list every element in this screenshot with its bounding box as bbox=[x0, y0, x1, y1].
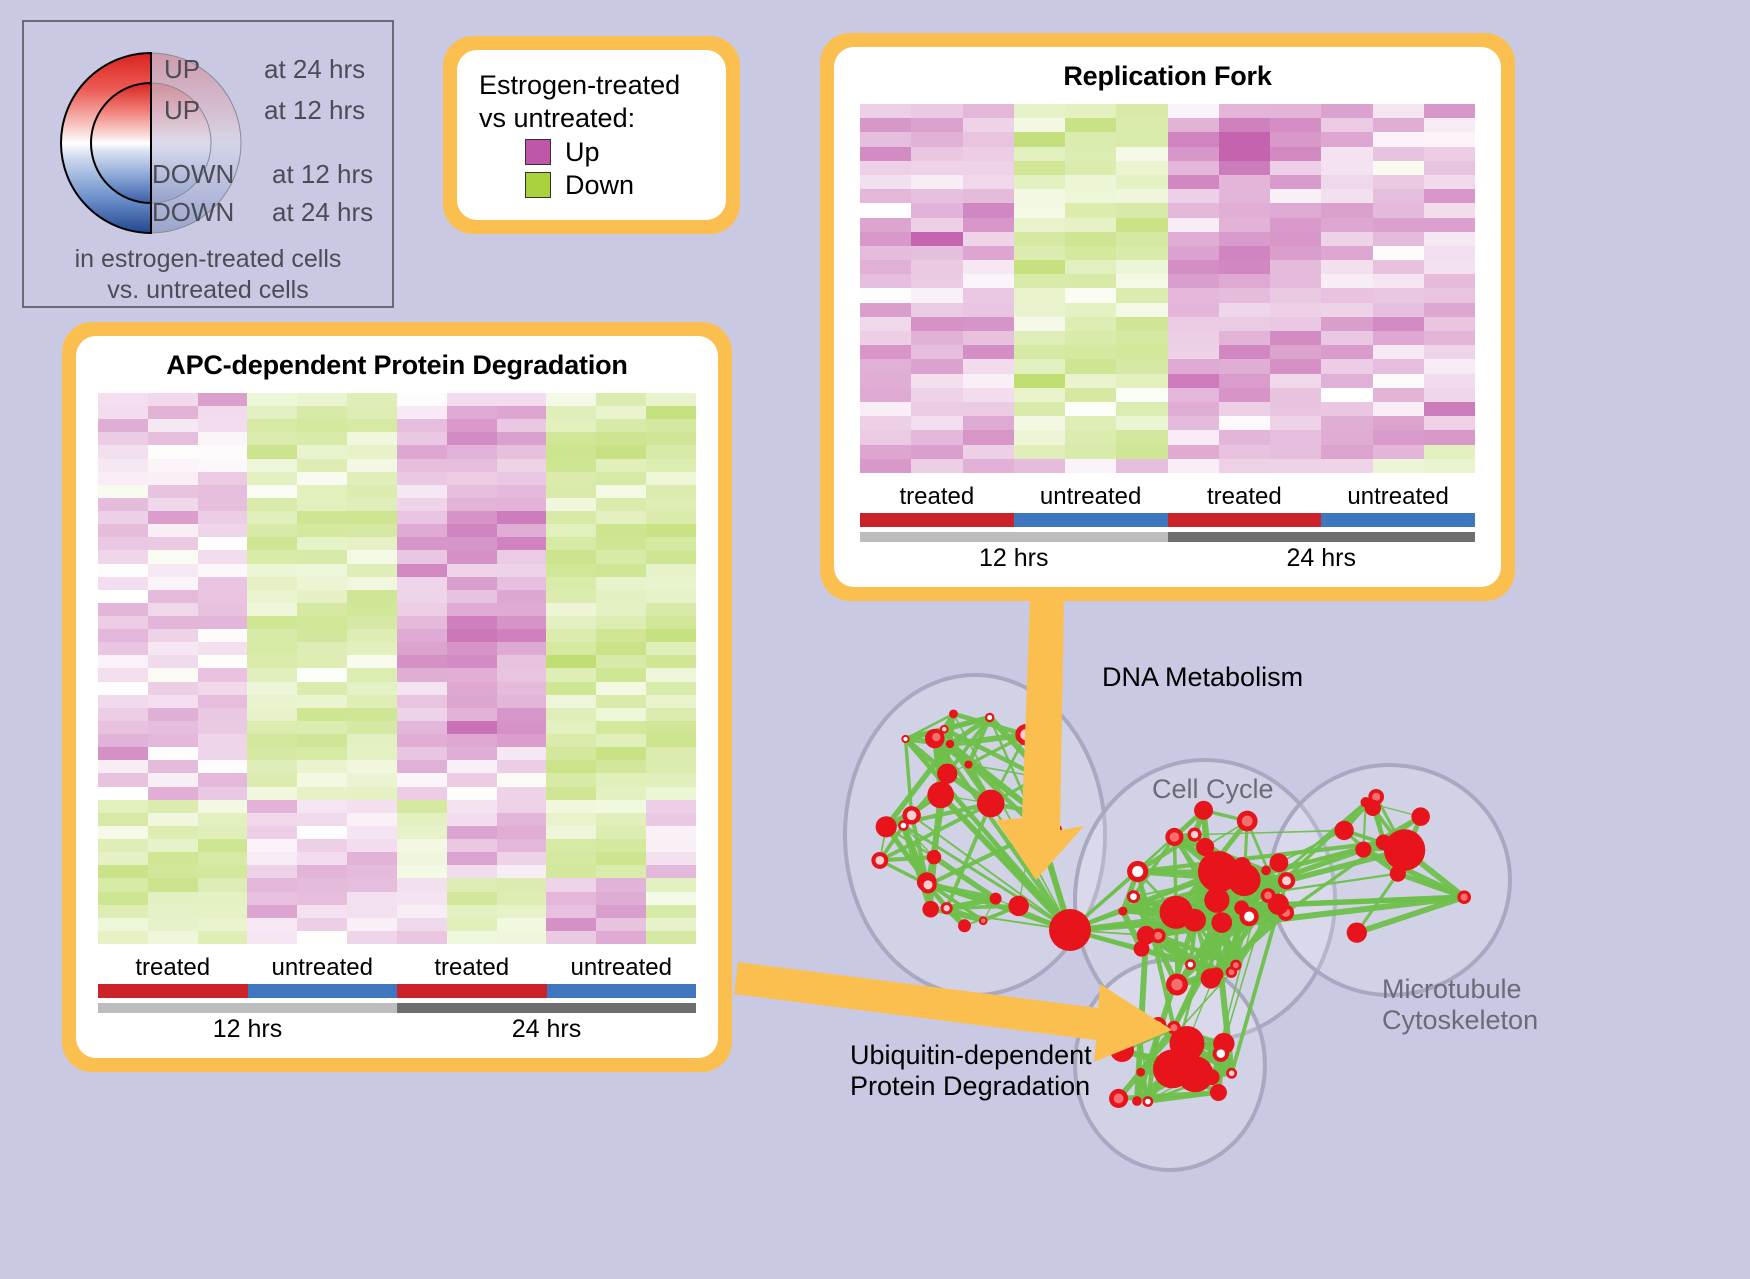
heatmap-cell bbox=[497, 813, 547, 826]
heatmap-cell bbox=[397, 905, 447, 918]
heatmap-cell bbox=[98, 432, 148, 445]
heatmap-cell bbox=[247, 472, 297, 485]
heatmap-cell bbox=[447, 485, 497, 498]
heatmap-cell bbox=[148, 852, 198, 865]
heatmap-cell bbox=[397, 708, 447, 721]
heatmap-cell bbox=[1116, 459, 1167, 473]
heatmap-cell bbox=[148, 537, 198, 550]
network-node bbox=[990, 893, 1002, 905]
legend-swatch-up-icon bbox=[525, 139, 551, 165]
heatmap-cell bbox=[297, 773, 347, 786]
heatmap-cell bbox=[596, 655, 646, 668]
network-node-core bbox=[1038, 769, 1049, 780]
heatmap-cell bbox=[98, 918, 148, 931]
heatmap-cell bbox=[646, 708, 696, 721]
heatmap-cell bbox=[646, 472, 696, 485]
heatmap-cell bbox=[546, 616, 596, 629]
heatmap-cell bbox=[347, 616, 397, 629]
network-node-core bbox=[875, 856, 884, 865]
heatmap-cell bbox=[646, 445, 696, 458]
heatmap-cell bbox=[1219, 118, 1270, 132]
heatmap-cell bbox=[596, 734, 646, 747]
heatmap-cell bbox=[1014, 104, 1065, 118]
heatmap-cell bbox=[497, 800, 547, 813]
heatmap-cell bbox=[397, 918, 447, 931]
heatmap-cell bbox=[1168, 388, 1219, 402]
network-node-core bbox=[903, 737, 907, 741]
heatmap-cell bbox=[1321, 104, 1372, 118]
heatmap-cell bbox=[1373, 232, 1424, 246]
heatmap-cell bbox=[1065, 359, 1116, 373]
heatmap-cell bbox=[447, 590, 497, 603]
heatmap-cell bbox=[1424, 175, 1475, 189]
network-node-core bbox=[1372, 793, 1380, 801]
heatmap-cell bbox=[1014, 445, 1065, 459]
apc-time-label-0: 12 hrs bbox=[98, 1015, 397, 1044]
heatmap-cell bbox=[1065, 317, 1116, 331]
legend-item-down: Down bbox=[525, 170, 634, 201]
network-node bbox=[1334, 821, 1353, 840]
heatmap-cell bbox=[860, 104, 911, 118]
heatmap-cell bbox=[1168, 203, 1219, 217]
network-node-core bbox=[1154, 932, 1162, 940]
time-bar-24hrs bbox=[1168, 532, 1476, 542]
apc-degradation-title: APC-dependent Protein Degradation bbox=[166, 350, 627, 381]
heatmap-cell bbox=[1168, 147, 1219, 161]
heatmap-cell bbox=[497, 905, 547, 918]
heatmap-cell bbox=[198, 590, 248, 603]
heatmap-cell bbox=[1219, 246, 1270, 260]
heatmap-cell bbox=[297, 629, 347, 642]
heatmap-cell bbox=[447, 445, 497, 458]
heatmap-cell bbox=[963, 331, 1014, 345]
heatmap-cell bbox=[1014, 459, 1065, 473]
heatmap-cell bbox=[247, 734, 297, 747]
heatmap-cell bbox=[297, 852, 347, 865]
heatmap-cell bbox=[397, 878, 447, 891]
heatmap-cell bbox=[1065, 331, 1116, 345]
key-time-up-24: at 24 hrs bbox=[264, 54, 365, 85]
heatmap-cell bbox=[1168, 402, 1219, 416]
heatmap-cell bbox=[247, 878, 297, 891]
heatmap-cell bbox=[397, 406, 447, 419]
heatmap-cell bbox=[247, 905, 297, 918]
heatmap-cell bbox=[596, 695, 646, 708]
network-node bbox=[1049, 909, 1091, 951]
heatmap-cell bbox=[1270, 104, 1321, 118]
heatmap-cell bbox=[1065, 118, 1116, 132]
network-node bbox=[1118, 907, 1127, 916]
heatmap-cell bbox=[1168, 274, 1219, 288]
heatmap-cell bbox=[1065, 288, 1116, 302]
heatmap-cell bbox=[148, 747, 198, 760]
heatmap-cell bbox=[860, 147, 911, 161]
network-node-core bbox=[1154, 1021, 1163, 1030]
key-footer-line1: in estrogen-treated cells bbox=[24, 244, 392, 275]
heatmap-cell bbox=[347, 747, 397, 760]
heatmap-cell bbox=[297, 393, 347, 406]
heatmap-cell bbox=[447, 734, 497, 747]
heatmap-cell bbox=[646, 878, 696, 891]
heatmap-cell bbox=[198, 918, 248, 931]
heatmap-cell bbox=[397, 826, 447, 839]
network-node-core bbox=[932, 733, 940, 741]
heatmap-cell bbox=[1065, 147, 1116, 161]
legend-swatch-down-icon bbox=[525, 172, 551, 198]
heatmap-cell bbox=[911, 132, 962, 146]
heatmap-cell bbox=[963, 374, 1014, 388]
heatmap-cell bbox=[1116, 388, 1167, 402]
heatmap-cell bbox=[1065, 232, 1116, 246]
heatmap-cell bbox=[1014, 147, 1065, 161]
heatmap-cell bbox=[1373, 104, 1424, 118]
heatmap-cell bbox=[1219, 203, 1270, 217]
heatmap-cell bbox=[1373, 430, 1424, 444]
heatmap-cell bbox=[347, 682, 397, 695]
heatmap-cell bbox=[1168, 331, 1219, 345]
heatmap-cell bbox=[497, 511, 547, 524]
heatmap-cell bbox=[1270, 161, 1321, 175]
heatmap-cell bbox=[596, 629, 646, 642]
heatmap-cell bbox=[911, 274, 962, 288]
heatmap-cell bbox=[546, 682, 596, 695]
heatmap-cell bbox=[1424, 132, 1475, 146]
heatmap-cell bbox=[397, 393, 447, 406]
heatmap-cell bbox=[1219, 359, 1270, 373]
heatmap-cell bbox=[198, 445, 248, 458]
heatmap-cell bbox=[397, 498, 447, 511]
ubiquitin-label-line2: Protein Degradation bbox=[850, 1071, 1092, 1102]
heatmap-cell bbox=[497, 721, 547, 734]
heatmap-cell bbox=[397, 564, 447, 577]
heatmap-cell bbox=[148, 813, 198, 826]
heatmap-cell bbox=[397, 839, 447, 852]
heatmap-cell bbox=[1065, 161, 1116, 175]
cluster-halo-microtubule bbox=[1270, 765, 1510, 995]
heatmap-cell bbox=[1321, 374, 1372, 388]
heatmap-cell bbox=[148, 918, 198, 931]
heatmap-cell bbox=[247, 892, 297, 905]
heatmap-cell bbox=[860, 189, 911, 203]
heatmap-cell bbox=[497, 629, 547, 642]
heatmap-cell bbox=[198, 550, 248, 563]
network-node-core bbox=[1233, 962, 1239, 968]
heatmap-cell bbox=[297, 445, 347, 458]
heatmap-cell bbox=[1065, 104, 1116, 118]
heatmap-cell bbox=[1116, 445, 1167, 459]
heatmap-cell bbox=[347, 459, 397, 472]
heatmap-cell bbox=[1014, 331, 1065, 345]
heatmap-cell bbox=[347, 892, 397, 905]
heatmap-cell bbox=[497, 564, 547, 577]
network-node-core bbox=[1461, 894, 1468, 901]
heatmap-cell bbox=[1168, 303, 1219, 317]
heatmap-cell bbox=[546, 537, 596, 550]
heatmap-cell bbox=[297, 682, 347, 695]
heatmap-cell bbox=[447, 826, 497, 839]
heatmap-cell bbox=[1424, 203, 1475, 217]
heatmap-cell bbox=[98, 524, 148, 537]
heatmap-cell bbox=[148, 577, 198, 590]
heatmap-cell bbox=[247, 432, 297, 445]
heatmap-cell bbox=[860, 246, 911, 260]
replication-column-labels: treated untreated treated untreated bbox=[860, 483, 1475, 511]
color-key-box: UP at 24 hrs UP at 12 hrs DOWN at 12 hrs… bbox=[22, 20, 394, 308]
heatmap-cell bbox=[297, 695, 347, 708]
heatmap-cell bbox=[98, 577, 148, 590]
heatmap-cell bbox=[1424, 303, 1475, 317]
heatmap-cell bbox=[1116, 246, 1167, 260]
heatmap-cell bbox=[1168, 288, 1219, 302]
heatmap-cell bbox=[497, 878, 547, 891]
network-node-core bbox=[1229, 1070, 1235, 1076]
heatmap-cell bbox=[860, 430, 911, 444]
heatmap-cell bbox=[497, 865, 547, 878]
heatmap-cell bbox=[497, 432, 547, 445]
rep-time-label-0: 12 hrs bbox=[860, 544, 1168, 573]
replication-treatment-bar bbox=[860, 513, 1475, 527]
rep-col-label-3: untreated bbox=[1321, 483, 1475, 511]
heatmap-cell bbox=[247, 616, 297, 629]
heatmap-cell bbox=[297, 603, 347, 616]
heatmap-cell bbox=[911, 459, 962, 473]
heatmap-cell bbox=[148, 445, 198, 458]
heatmap-cell bbox=[596, 419, 646, 432]
heatmap-cell bbox=[497, 918, 547, 931]
cluster-label-dna-metabolism: DNA Metabolism bbox=[1102, 662, 1303, 693]
heatmap-cell bbox=[198, 419, 248, 432]
rep-col-label-2: treated bbox=[1168, 483, 1322, 511]
heatmap-cell bbox=[1219, 232, 1270, 246]
key-time-down-24: at 24 hrs bbox=[272, 197, 373, 228]
heatmap-cell bbox=[148, 839, 198, 852]
heatmap-cell bbox=[1065, 203, 1116, 217]
heatmap-cell bbox=[198, 905, 248, 918]
network-node bbox=[1136, 1068, 1145, 1077]
heatmap-cell bbox=[596, 642, 646, 655]
heatmap-cell bbox=[646, 773, 696, 786]
heatmap-cell bbox=[546, 760, 596, 773]
heatmap-cell bbox=[646, 498, 696, 511]
key-label-down-12: DOWN bbox=[152, 159, 234, 190]
heatmap-cell bbox=[1424, 274, 1475, 288]
heatmap-cell bbox=[397, 852, 447, 865]
treated-bar-segment bbox=[98, 984, 248, 998]
heatmap-cell bbox=[497, 642, 547, 655]
heatmap-cell bbox=[911, 303, 962, 317]
heatmap-cell bbox=[397, 432, 447, 445]
heatmap-cell bbox=[911, 118, 962, 132]
heatmap-cell bbox=[198, 511, 248, 524]
heatmap-cell bbox=[963, 132, 1014, 146]
heatmap-cell bbox=[1321, 388, 1372, 402]
heatmap-cell bbox=[347, 826, 397, 839]
heatmap-cell bbox=[963, 445, 1014, 459]
heatmap-cell bbox=[1116, 331, 1167, 345]
heatmap-cell bbox=[963, 203, 1014, 217]
heatmap-cell bbox=[1270, 402, 1321, 416]
network-node bbox=[927, 850, 941, 864]
network-node bbox=[1365, 800, 1381, 816]
heatmap-cell bbox=[646, 432, 696, 445]
heatmap-cell bbox=[963, 416, 1014, 430]
replication-fork-inner: Replication Fork treated untreated treat… bbox=[834, 47, 1501, 587]
heatmap-cell bbox=[98, 655, 148, 668]
heatmap-cell bbox=[546, 406, 596, 419]
heatmap-cell bbox=[347, 918, 397, 931]
heatmap-cell bbox=[148, 642, 198, 655]
heatmap-cell bbox=[347, 629, 397, 642]
heatmap-cell bbox=[98, 878, 148, 891]
replication-fork-heatmap bbox=[860, 104, 1475, 473]
heatmap-cell bbox=[247, 852, 297, 865]
heatmap-cell bbox=[1065, 388, 1116, 402]
heatmap-cell bbox=[297, 498, 347, 511]
network-node-core bbox=[1188, 962, 1194, 968]
cluster-label-cell-cycle: Cell Cycle bbox=[1152, 774, 1274, 805]
network-node bbox=[1355, 842, 1371, 858]
heatmap-cell bbox=[1116, 416, 1167, 430]
heatmap-cell bbox=[497, 419, 547, 432]
treated-bar-segment bbox=[1168, 513, 1322, 527]
apc-col-label-1: untreated bbox=[248, 954, 398, 982]
heatmap-cell bbox=[1270, 132, 1321, 146]
heatmap-cell bbox=[546, 826, 596, 839]
heatmap-cell bbox=[397, 537, 447, 550]
heatmap-cell bbox=[297, 918, 347, 931]
heatmap-cell bbox=[198, 432, 248, 445]
heatmap-cell bbox=[546, 432, 596, 445]
heatmap-cell bbox=[198, 682, 248, 695]
heatmap-cell bbox=[1014, 161, 1065, 175]
heatmap-cell bbox=[347, 590, 397, 603]
heatmap-cell bbox=[1424, 317, 1475, 331]
heatmap-cell bbox=[497, 747, 547, 760]
heatmap-cell bbox=[1321, 430, 1372, 444]
heatmap-cell bbox=[497, 472, 547, 485]
heatmap-cell bbox=[148, 603, 198, 616]
heatmap-cell bbox=[860, 359, 911, 373]
heatmap-cell bbox=[1116, 430, 1167, 444]
heatmap-cell bbox=[1116, 104, 1167, 118]
heatmap-cell bbox=[596, 813, 646, 826]
heatmap-cell bbox=[297, 826, 347, 839]
heatmap-cell bbox=[297, 472, 347, 485]
heatmap-cell bbox=[247, 406, 297, 419]
heatmap-cell bbox=[1168, 118, 1219, 132]
heatmap-cell bbox=[596, 524, 646, 537]
heatmap-cell bbox=[148, 590, 198, 603]
heatmap-cell bbox=[98, 550, 148, 563]
heatmap-cell bbox=[911, 331, 962, 345]
pathway-network-graph: DNA Metabolism Cell Cycle Microtubule Cy… bbox=[770, 600, 1750, 1279]
heatmap-cell bbox=[963, 359, 1014, 373]
heatmap-cell bbox=[1014, 345, 1065, 359]
heatmap-cell bbox=[98, 734, 148, 747]
heatmap-cell bbox=[1116, 260, 1167, 274]
heatmap-cell bbox=[646, 419, 696, 432]
heatmap-cell bbox=[1321, 416, 1372, 430]
heatmap-cell bbox=[1373, 161, 1424, 175]
heatmap-cell bbox=[148, 498, 198, 511]
heatmap-cell bbox=[447, 721, 497, 734]
heatmap-cell bbox=[546, 734, 596, 747]
heatmap-cell bbox=[1219, 161, 1270, 175]
heatmap-cell bbox=[447, 852, 497, 865]
heatmap-cell bbox=[646, 616, 696, 629]
heatmap-cell bbox=[1321, 274, 1372, 288]
heatmap-cell bbox=[1373, 189, 1424, 203]
heatmap-cell bbox=[148, 616, 198, 629]
heatmap-cell bbox=[447, 695, 497, 708]
heatmap-cell bbox=[198, 629, 248, 642]
heatmap-cell bbox=[1065, 274, 1116, 288]
heatmap-cell bbox=[1116, 189, 1167, 203]
heatmap-cell bbox=[297, 511, 347, 524]
heatmap-cell bbox=[1373, 388, 1424, 402]
heatmap-cell bbox=[247, 760, 297, 773]
heatmap-cell bbox=[397, 734, 447, 747]
heatmap-cell bbox=[596, 564, 646, 577]
heatmap-cell bbox=[596, 865, 646, 878]
heatmap-cell bbox=[546, 577, 596, 590]
heatmap-cell bbox=[447, 813, 497, 826]
heatmap-cell bbox=[347, 813, 397, 826]
heatmap-cell bbox=[1373, 118, 1424, 132]
heatmap-cell bbox=[963, 232, 1014, 246]
heatmap-cell bbox=[397, 419, 447, 432]
heatmap-cell bbox=[1014, 288, 1065, 302]
heatmap-cell bbox=[1219, 218, 1270, 232]
heatmap-cell bbox=[397, 773, 447, 786]
heatmap-cell bbox=[98, 393, 148, 406]
heatmap-cell bbox=[447, 878, 497, 891]
heatmap-cell bbox=[297, 485, 347, 498]
key-time-up-12: at 12 hrs bbox=[264, 95, 365, 126]
heatmap-cell bbox=[963, 104, 1014, 118]
heatmap-cell bbox=[596, 472, 646, 485]
heatmap-cell bbox=[347, 760, 397, 773]
apc-col-label-2: treated bbox=[397, 954, 547, 982]
heatmap-cell bbox=[447, 564, 497, 577]
heatmap-cell bbox=[546, 629, 596, 642]
heatmap-cell bbox=[447, 577, 497, 590]
heatmap-cell bbox=[447, 537, 497, 550]
network-node bbox=[1198, 851, 1239, 892]
heatmap-cell bbox=[247, 537, 297, 550]
heatmap-cell bbox=[596, 432, 646, 445]
apc-treatment-bar bbox=[98, 984, 696, 998]
heatmap-cell bbox=[98, 629, 148, 642]
heatmap-cell bbox=[447, 419, 497, 432]
heatmap-cell bbox=[911, 175, 962, 189]
network-node bbox=[1233, 857, 1251, 875]
heatmap-cell bbox=[1065, 260, 1116, 274]
heatmap-cell bbox=[497, 603, 547, 616]
heatmap-cell bbox=[1373, 175, 1424, 189]
heatmap-cell bbox=[397, 931, 447, 944]
heatmap-cell bbox=[497, 839, 547, 852]
legend-item-up: Up bbox=[525, 137, 600, 168]
heatmap-cell bbox=[497, 590, 547, 603]
heatmap-cell bbox=[963, 459, 1014, 473]
rep-time-label-1: 24 hrs bbox=[1168, 544, 1476, 573]
network-node bbox=[1384, 829, 1425, 870]
heatmap-cell bbox=[546, 564, 596, 577]
heatmap-cell bbox=[447, 498, 497, 511]
heatmap-cell bbox=[148, 931, 198, 944]
apc-col-label-0: treated bbox=[98, 954, 248, 982]
